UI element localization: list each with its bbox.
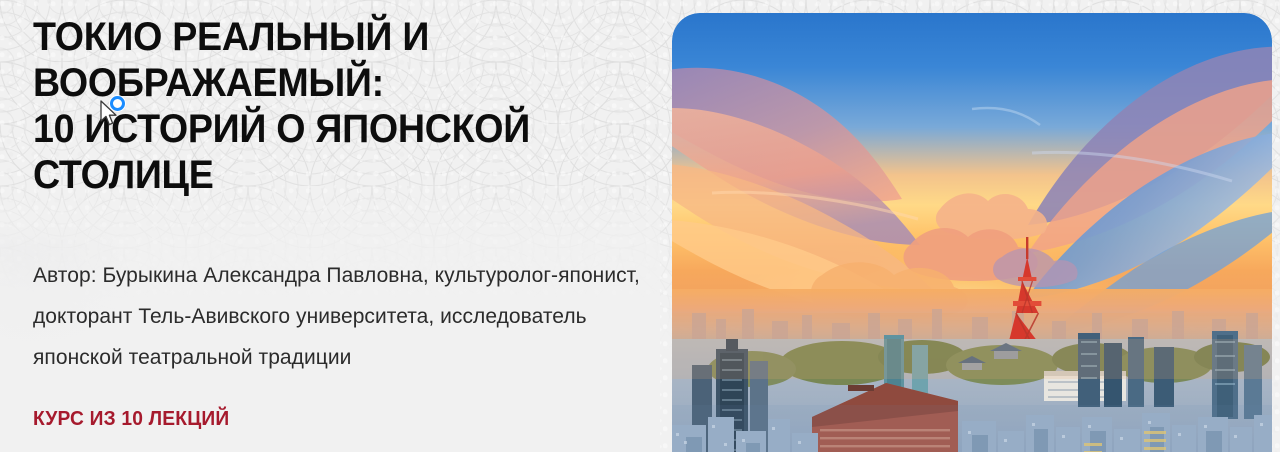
course-text-column: ТОКИО РЕАЛЬНЫЙ И ВООБРАЖАЕМЫЙ: 10 ИСТОРИ… — [33, 0, 653, 452]
page-title: ТОКИО РЕАЛЬНЫЙ И ВООБРАЖАЕМЫЙ: 10 ИСТОРИ… — [33, 14, 597, 198]
course-banner-page: ТОКИО РЕАЛЬНЫЙ И ВООБРАЖАЕМЫЙ: 10 ИСТОРИ… — [0, 0, 1280, 452]
course-author-text: Автор: Бурыкина Александра Павловна, кул… — [33, 255, 648, 378]
lecture-count-badge: КУРС ИЗ 10 ЛЕКЦИЙ — [33, 406, 229, 432]
hero-image — [672, 13, 1272, 452]
